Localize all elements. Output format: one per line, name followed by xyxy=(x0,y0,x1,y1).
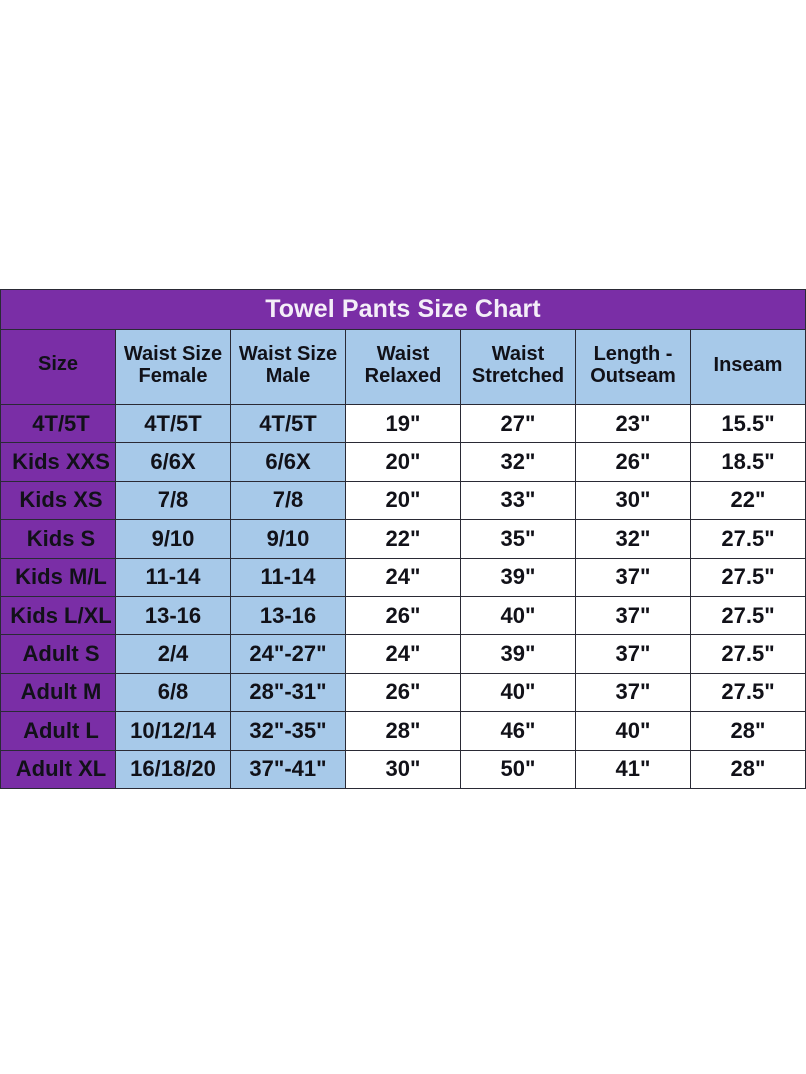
cell-waist_female: 6/8 xyxy=(116,673,231,711)
cell-inseam: 18.5" xyxy=(691,443,806,481)
cell-waist_relaxed: 28" xyxy=(346,712,461,750)
cell-waist_relaxed: 20" xyxy=(346,481,461,519)
column-header-line2-waist_male: Male xyxy=(231,365,345,387)
cell-size: Kids M/L xyxy=(1,558,116,596)
table-row: Kids XXS6/6X6/6X20"32"26"18.5" xyxy=(1,443,806,481)
cell-length_outseam: 23" xyxy=(576,405,691,443)
cell-waist_relaxed: 19" xyxy=(346,405,461,443)
cell-waist_male: 37"-41" xyxy=(231,750,346,788)
cell-waist_female: 9/10 xyxy=(116,520,231,558)
cell-size: Kids L/XL xyxy=(1,596,116,634)
title-row: Towel Pants Size Chart xyxy=(1,290,806,330)
column-header-line2-length_outseam: Outseam xyxy=(576,365,690,387)
cell-size: Kids XS xyxy=(1,481,116,519)
cell-waist_male: 9/10 xyxy=(231,520,346,558)
column-header-inseam: Inseam xyxy=(691,330,806,405)
table-row: Kids L/XL13-1613-1626"40"37"27.5" xyxy=(1,596,806,634)
cell-inseam: 28" xyxy=(691,750,806,788)
cell-waist_relaxed: 30" xyxy=(346,750,461,788)
table-row: Kids M/L11-1411-1424"39"37"27.5" xyxy=(1,558,806,596)
cell-waist_stretched: 27" xyxy=(461,405,576,443)
column-header-line2-waist_female: Female xyxy=(116,365,230,387)
cell-waist_female: 11-14 xyxy=(116,558,231,596)
column-header-row: SizeWaist SizeFemaleWaist SizeMaleWaistR… xyxy=(1,330,806,405)
column-header-waist_male: Waist SizeMale xyxy=(231,330,346,405)
cell-size: Adult S xyxy=(1,635,116,673)
cell-waist_female: 13-16 xyxy=(116,596,231,634)
cell-inseam: 28" xyxy=(691,712,806,750)
cell-size: Kids S xyxy=(1,520,116,558)
cell-size: 4T/5T xyxy=(1,405,116,443)
cell-length_outseam: 40" xyxy=(576,712,691,750)
cell-inseam: 15.5" xyxy=(691,405,806,443)
cell-waist_relaxed: 26" xyxy=(346,596,461,634)
column-header-line1-length_outseam: Length - xyxy=(576,343,690,365)
cell-waist_stretched: 32" xyxy=(461,443,576,481)
cell-waist_relaxed: 26" xyxy=(346,673,461,711)
cell-length_outseam: 37" xyxy=(576,635,691,673)
cell-inseam: 27.5" xyxy=(691,596,806,634)
cell-waist_stretched: 39" xyxy=(461,635,576,673)
column-header-line2-inseam: Inseam xyxy=(691,354,805,376)
cell-waist_female: 16/18/20 xyxy=(116,750,231,788)
cell-size: Adult XL xyxy=(1,750,116,788)
cell-inseam: 27.5" xyxy=(691,520,806,558)
cell-inseam: 22" xyxy=(691,481,806,519)
cell-waist_relaxed: 20" xyxy=(346,443,461,481)
cell-waist_stretched: 46" xyxy=(461,712,576,750)
cell-waist_stretched: 33" xyxy=(461,481,576,519)
table-row: Adult S2/424"-27"24"39"37"27.5" xyxy=(1,635,806,673)
cell-waist_male: 32"-35" xyxy=(231,712,346,750)
cell-length_outseam: 30" xyxy=(576,481,691,519)
cell-length_outseam: 37" xyxy=(576,673,691,711)
cell-waist_female: 2/4 xyxy=(116,635,231,673)
cell-waist_female: 4T/5T xyxy=(116,405,231,443)
table-row: Adult XL16/18/2037"-41"30"50"41"28" xyxy=(1,750,806,788)
cell-waist_stretched: 40" xyxy=(461,673,576,711)
cell-waist_stretched: 39" xyxy=(461,558,576,596)
cell-inseam: 27.5" xyxy=(691,558,806,596)
cell-length_outseam: 26" xyxy=(576,443,691,481)
column-header-line1-waist_stretched: Waist xyxy=(461,343,575,365)
column-header-length_outseam: Length -Outseam xyxy=(576,330,691,405)
table-row: Adult L10/12/1432"-35"28"46"40"28" xyxy=(1,712,806,750)
size-chart-body: Towel Pants Size Chart SizeWaist SizeFem… xyxy=(1,290,806,789)
cell-waist_female: 6/6X xyxy=(116,443,231,481)
column-header-line1-waist_male: Waist Size xyxy=(231,343,345,365)
cell-waist_stretched: 50" xyxy=(461,750,576,788)
cell-length_outseam: 41" xyxy=(576,750,691,788)
cell-inseam: 27.5" xyxy=(691,673,806,711)
cell-waist_male: 13-16 xyxy=(231,596,346,634)
chart-title: Towel Pants Size Chart xyxy=(1,290,806,330)
column-header-size: Size xyxy=(1,330,116,405)
column-header-line2-waist_stretched: Stretched xyxy=(461,365,575,387)
cell-waist_male: 28"-31" xyxy=(231,673,346,711)
cell-inseam: 27.5" xyxy=(691,635,806,673)
column-header-waist_relaxed: WaistRelaxed xyxy=(346,330,461,405)
cell-waist_male: 24"-27" xyxy=(231,635,346,673)
column-header-waist_female: Waist SizeFemale xyxy=(116,330,231,405)
table-row: Adult M6/828"-31"26"40"37"27.5" xyxy=(1,673,806,711)
cell-waist_male: 4T/5T xyxy=(231,405,346,443)
cell-length_outseam: 37" xyxy=(576,558,691,596)
cell-waist_relaxed: 22" xyxy=(346,520,461,558)
cell-length_outseam: 37" xyxy=(576,596,691,634)
table-row: Kids XS7/87/820"33"30"22" xyxy=(1,481,806,519)
cell-waist_male: 7/8 xyxy=(231,481,346,519)
cell-waist_female: 7/8 xyxy=(116,481,231,519)
cell-waist_male: 6/6X xyxy=(231,443,346,481)
cell-waist_relaxed: 24" xyxy=(346,635,461,673)
cell-size: Kids XXS xyxy=(1,443,116,481)
cell-waist_male: 11-14 xyxy=(231,558,346,596)
column-header-line2-waist_relaxed: Relaxed xyxy=(346,365,460,387)
cell-waist_stretched: 35" xyxy=(461,520,576,558)
size-chart-container: Towel Pants Size Chart SizeWaist SizeFem… xyxy=(0,289,806,789)
cell-waist_stretched: 40" xyxy=(461,596,576,634)
column-header-line1-waist_female: Waist Size xyxy=(116,343,230,365)
table-row: 4T/5T4T/5T4T/5T19"27"23"15.5" xyxy=(1,405,806,443)
towel-pants-size-chart-table: Towel Pants Size Chart SizeWaist SizeFem… xyxy=(0,289,806,789)
cell-size: Adult L xyxy=(1,712,116,750)
column-header-waist_stretched: WaistStretched xyxy=(461,330,576,405)
table-row: Kids S9/109/1022"35"32"27.5" xyxy=(1,520,806,558)
cell-size: Adult M xyxy=(1,673,116,711)
column-header-line2-size: Size xyxy=(38,353,78,375)
column-header-line1-waist_relaxed: Waist xyxy=(346,343,460,365)
cell-length_outseam: 32" xyxy=(576,520,691,558)
cell-waist_female: 10/12/14 xyxy=(116,712,231,750)
cell-waist_relaxed: 24" xyxy=(346,558,461,596)
